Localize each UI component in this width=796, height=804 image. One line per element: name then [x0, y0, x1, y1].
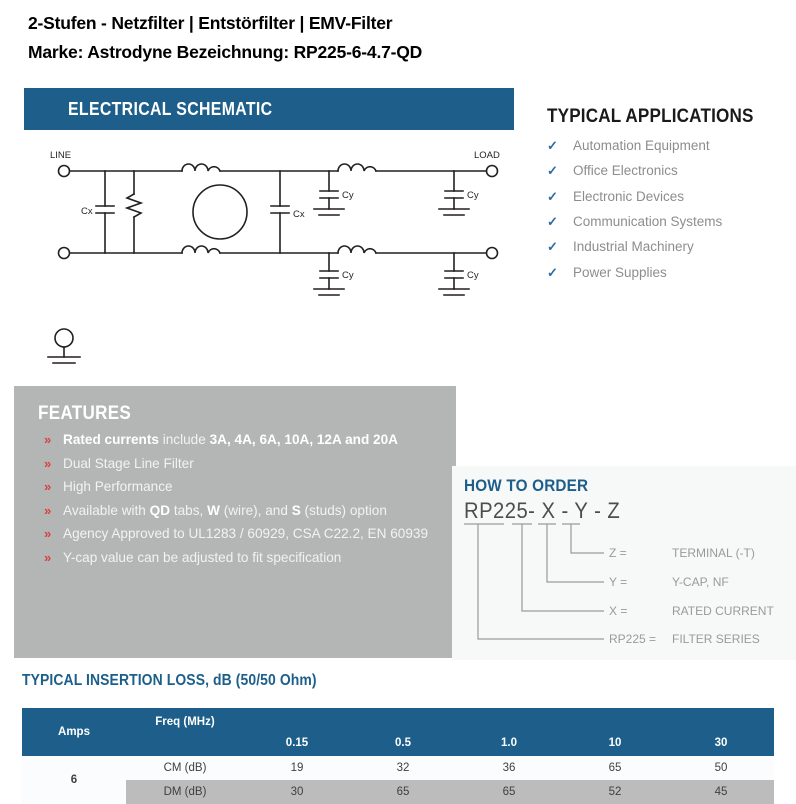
application-item: ✓ Office Electronics [547, 164, 792, 179]
schematic-diagram: LINE LOAD Cx Cx Cy Cy Cy Cy [24, 138, 524, 378]
cell-amps: 6 [22, 756, 126, 804]
feature-label: Dual Stage Line Filter [63, 453, 194, 476]
legend-value: Y-CAP, NF [672, 575, 729, 589]
column-header-freq-value: 0.5 [350, 708, 456, 756]
cell-value: 32 [350, 756, 456, 780]
cell-value: 52 [562, 780, 668, 804]
cell-value: 65 [456, 780, 562, 804]
cell-value: 65 [350, 780, 456, 804]
chevron-double-right-icon: » [44, 476, 63, 499]
application-label: Electronic Devices [573, 190, 684, 205]
cell-mode: DM (dB) [126, 780, 244, 804]
schematic-label-cy-2: Cy [467, 190, 479, 201]
schematic-label-cy-1: Cy [342, 190, 354, 201]
insertion-loss-title: TYPICAL INSERTION LOSS, dB (50/50 Ohm) [22, 672, 317, 690]
application-label: Industrial Machinery [573, 240, 694, 255]
feature-label: Rated currents include 3A, 4A, 6A, 10A, … [63, 429, 398, 452]
column-header-freq: Freq (MHz) [126, 708, 244, 756]
features-list: » Rated currents include 3A, 4A, 6A, 10A… [14, 429, 456, 569]
legend-value: FILTER SERIES [672, 632, 760, 646]
check-icon: ✓ [547, 139, 573, 152]
chevron-double-right-icon: » [44, 453, 63, 476]
legend-key: X = [609, 604, 627, 618]
legend-key: Z = [609, 546, 627, 560]
application-item: ✓ Automation Equipment [547, 139, 792, 154]
schematic-label-cy-3: Cy [342, 270, 354, 281]
cell-value: 45 [668, 780, 774, 804]
feature-item: » High Performance [14, 476, 456, 499]
column-header-freq-value: 0.15 [244, 708, 350, 756]
chevron-double-right-icon: » [44, 500, 63, 523]
application-label: Power Supplies [573, 266, 667, 281]
cell-value: 50 [668, 756, 774, 780]
feature-label: Agency Approved to UL1283 / 60929, CSA C… [63, 523, 428, 546]
typical-applications-section: TYPICAL APPLICATIONS ✓ Automation Equipm… [547, 106, 792, 291]
how-to-order-panel: HOW TO ORDER RP225- X - Y - Z Z = TER [452, 466, 796, 660]
legend-key: Y = [609, 575, 627, 589]
feature-item: » Agency Approved to UL1283 / 60929, CSA… [14, 523, 456, 546]
schematic-header-label: ELECTRICAL SCHEMATIC [68, 99, 272, 120]
schematic-header-bar: ELECTRICAL SCHEMATIC [24, 88, 514, 130]
application-label: Automation Equipment [573, 139, 710, 154]
cell-value: 19 [244, 756, 350, 780]
feature-item: » Y-cap value can be adjusted to fit spe… [14, 547, 456, 570]
table-row: 6 CM (dB) 19 32 36 65 50 [22, 756, 774, 780]
feature-label: High Performance [63, 476, 173, 499]
check-icon: ✓ [547, 215, 573, 228]
legend-value: RATED CURRENT [672, 604, 774, 618]
order-code-leader-lines: Z = TERMINAL (-T) Y = Y-CAP, NF X = RATE… [452, 466, 796, 660]
cell-value: 36 [456, 756, 562, 780]
insertion-loss-table: Amps Freq (MHz) 0.15 0.5 1.0 10 30 6 CM … [22, 708, 774, 804]
application-item: ✓ Electronic Devices [547, 190, 792, 205]
column-header-freq-value: 30 [668, 708, 774, 756]
chevron-double-right-icon: » [44, 547, 63, 570]
check-icon: ✓ [547, 164, 573, 177]
feature-label: Available with QD tabs, W (wire), and S … [63, 500, 387, 523]
application-item: ✓ Communication Systems [547, 215, 792, 230]
legend-key: RP225 = [609, 632, 656, 646]
column-header-freq-value: 1.0 [456, 708, 562, 756]
application-item: ✓ Industrial Machinery [547, 240, 792, 255]
column-header-amps: Amps [22, 708, 126, 756]
chevron-double-right-icon: » [44, 429, 63, 452]
cell-mode: CM (dB) [126, 756, 244, 780]
cell-value: 65 [562, 756, 668, 780]
schematic-label-cx-left: Cx [81, 206, 93, 217]
table-header-row: Amps Freq (MHz) 0.15 0.5 1.0 10 30 [22, 708, 774, 756]
schematic-label-line: LINE [50, 150, 71, 161]
table-row: DM (dB) 30 65 65 52 45 [22, 780, 774, 804]
feature-label: Y-cap value can be adjusted to fit speci… [63, 547, 341, 570]
application-item: ✓ Power Supplies [547, 266, 792, 281]
check-icon: ✓ [547, 190, 573, 203]
title-line-1: 2-Stufen - Netzfilter | Entstörfilter | … [28, 9, 768, 38]
schematic-label-cy-4: Cy [467, 270, 479, 281]
check-icon: ✓ [547, 266, 573, 279]
datasheet-page: 2-Stufen - Netzfilter | Entstörfilter | … [0, 0, 796, 796]
check-icon: ✓ [547, 240, 573, 253]
column-header-freq-value: 10 [562, 708, 668, 756]
application-label: Office Electronics [573, 164, 678, 179]
legend-value: TERMINAL (-T) [672, 546, 755, 560]
cell-value: 30 [244, 780, 350, 804]
title-line-2: Marke: Astrodyne Bezeichnung: RP225-6-4.… [28, 38, 768, 67]
typical-applications-title: TYPICAL APPLICATIONS [547, 106, 768, 128]
features-panel: FEATURES » Rated currents include 3A, 4A… [14, 386, 456, 658]
schematic-label-cx-mid: Cx [293, 209, 305, 220]
page-title: 2-Stufen - Netzfilter | Entstörfilter | … [28, 9, 768, 67]
chevron-double-right-icon: » [44, 523, 63, 546]
feature-item: » Rated currents include 3A, 4A, 6A, 10A… [14, 429, 456, 452]
schematic-label-load: LOAD [474, 150, 500, 161]
feature-item: » Available with QD tabs, W (wire), and … [14, 500, 456, 523]
electrical-schematic-section: ELECTRICAL SCHEMATIC [24, 88, 514, 130]
feature-item: » Dual Stage Line Filter [14, 453, 456, 476]
application-label: Communication Systems [573, 215, 722, 230]
features-title: FEATURES [38, 403, 414, 425]
